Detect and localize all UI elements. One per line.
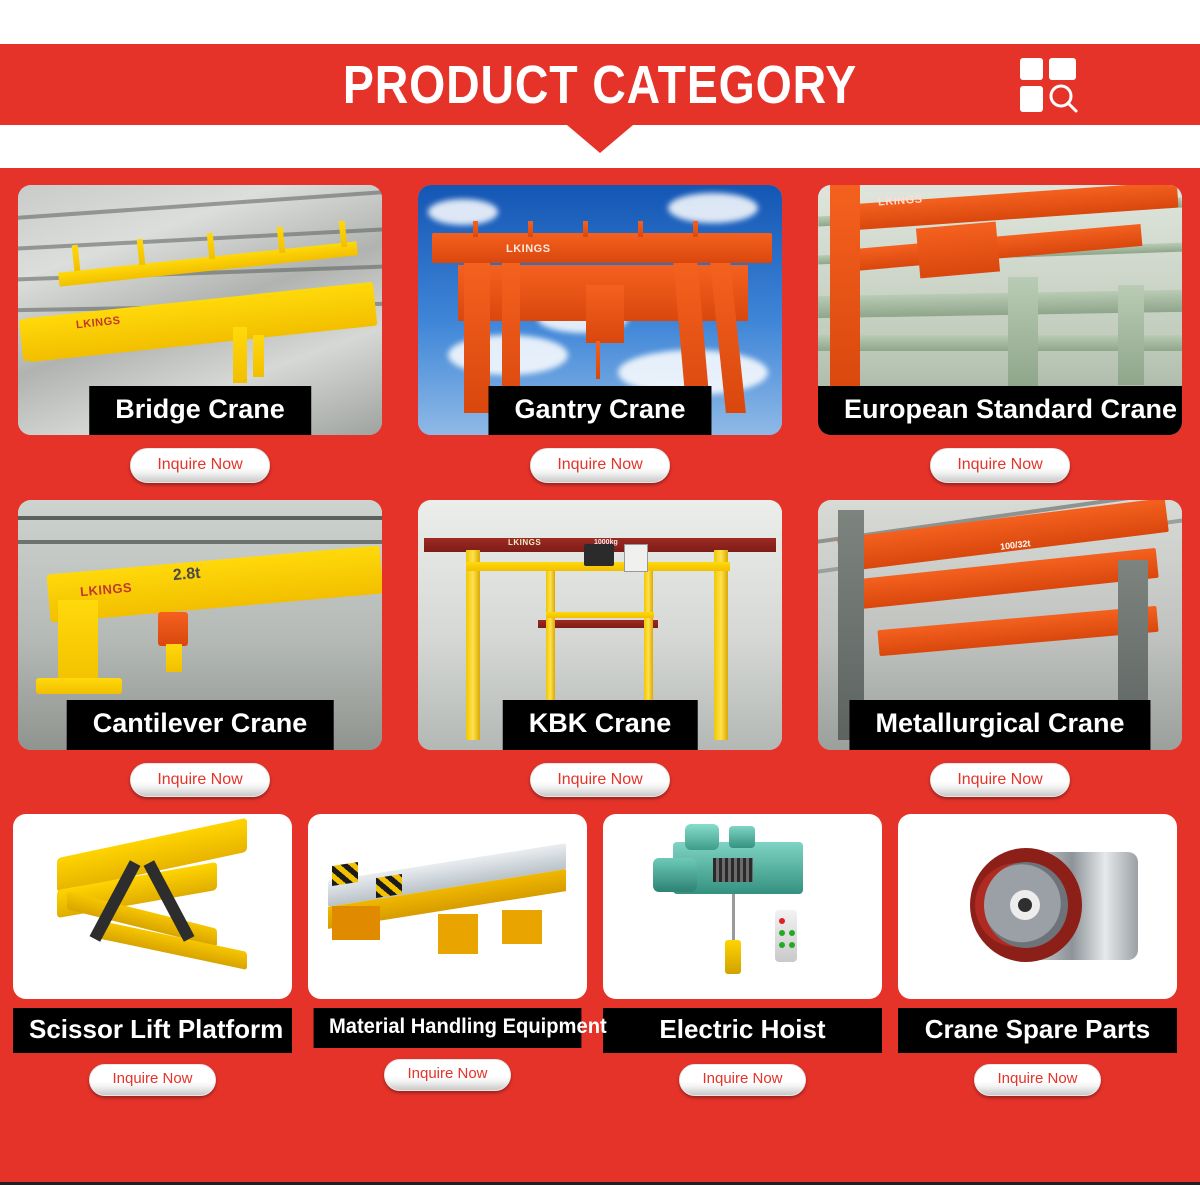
card-image-electric-hoist (603, 814, 882, 999)
inquire-now-button-metallurgical-crane[interactable]: Inquire Now (930, 763, 1069, 798)
card-label-bridge-crane: Bridge Crane (89, 386, 311, 435)
card-label-crane-spare-parts: Crane Spare Parts (898, 1008, 1177, 1053)
card-label-kbk-crane: KBK Crane (503, 700, 698, 749)
inquire-now-button-electric-hoist[interactable]: Inquire Now (679, 1064, 805, 1096)
category-card-kbk-crane[interactable]: LKINGS 1000kg KBK Crane Inquire Now (400, 483, 800, 798)
category-row-1: LKINGS Bridge Crane Inquire Now (0, 168, 1200, 483)
card-label-metallurgical-crane: Metallurgical Crane (849, 700, 1150, 749)
category-row-2: LKINGS 2.8t Cantilever Crane Inquire Now (0, 483, 1200, 798)
inquire-now-button-kbk-crane[interactable]: Inquire Now (530, 763, 669, 798)
card-image-scissor-lift-platform (13, 814, 292, 999)
card-image-metallurgical-crane: 100/32t Metallurgical Crane (818, 500, 1182, 750)
card-label-electric-hoist: Electric Hoist (603, 1008, 882, 1053)
inquire-now-button-crane-spare-parts[interactable]: Inquire Now (974, 1064, 1100, 1096)
category-grid: LKINGS Bridge Crane Inquire Now (0, 168, 1200, 1185)
card-image-kbk-crane: LKINGS 1000kg KBK Crane (418, 500, 782, 750)
card-label-material-handling-equipment: Material Handling Equipment (314, 1008, 582, 1048)
card-image-crane-spare-parts (898, 814, 1177, 999)
category-card-cantilever-crane[interactable]: LKINGS 2.8t Cantilever Crane Inquire Now (0, 483, 400, 798)
category-card-scissor-lift-platform[interactable]: Scissor Lift Platform Inquire Now (0, 802, 300, 1096)
category-row-3: Scissor Lift Platform Inquire Now Materi… (0, 797, 1200, 1096)
category-card-metallurgical-crane[interactable]: 100/32t Metallurgical Crane Inquire Now (800, 483, 1200, 798)
category-card-bridge-crane[interactable]: LKINGS Bridge Crane Inquire Now (0, 168, 400, 483)
inquire-now-button-cantilever-crane[interactable]: Inquire Now (130, 763, 269, 798)
card-image-bridge-crane: LKINGS Bridge Crane (18, 185, 382, 435)
page-header: PRODUCT CATEGORY (0, 44, 1200, 125)
card-image-material-handling-equipment (308, 814, 587, 999)
inquire-now-button-bridge-crane[interactable]: Inquire Now (130, 448, 269, 483)
brand-logo-watermark: LKINGS (508, 538, 541, 547)
category-card-material-handling-equipment[interactable]: Material Handling Equipment Inquire Now (300, 802, 595, 1096)
category-card-crane-spare-parts[interactable]: Crane Spare Parts Inquire Now (890, 802, 1185, 1096)
top-white-strip (0, 0, 1200, 44)
card-label-european-standard-crane: European Standard Crane (818, 386, 1182, 435)
grid-search-icon[interactable] (1018, 56, 1080, 114)
card-image-european-standard-crane: LKINGS European Standard Crane (818, 185, 1182, 435)
inquire-now-button-gantry-crane[interactable]: Inquire Now (530, 448, 669, 483)
inquire-now-button-scissor-lift-platform[interactable]: Inquire Now (89, 1064, 215, 1096)
card-image-cantilever-crane: LKINGS 2.8t Cantilever Crane (18, 500, 382, 750)
page-title: PRODUCT CATEGORY (343, 58, 857, 112)
capacity-marking: 2.8t (172, 564, 201, 584)
brand-logo-watermark: LKINGS (506, 243, 551, 255)
card-label-gantry-crane: Gantry Crane (488, 386, 711, 435)
category-card-electric-hoist[interactable]: Electric Hoist Inquire Now (595, 802, 890, 1096)
card-image-gantry-crane: LKINGS Gantry Crane (418, 185, 782, 435)
capacity-marking: 1000kg (594, 539, 618, 546)
header-notch (567, 125, 633, 153)
card-label-cantilever-crane: Cantilever Crane (67, 700, 334, 749)
card-label-scissor-lift-platform: Scissor Lift Platform (13, 1008, 292, 1053)
category-card-european-standard-crane[interactable]: LKINGS European Standard Crane Inquire N… (800, 168, 1200, 483)
category-card-gantry-crane[interactable]: LKINGS Gantry Crane Inquire Now (400, 168, 800, 483)
inquire-now-button-material-handling-equipment[interactable]: Inquire Now (384, 1059, 510, 1091)
inquire-now-button-european-standard-crane[interactable]: Inquire Now (930, 448, 1069, 483)
